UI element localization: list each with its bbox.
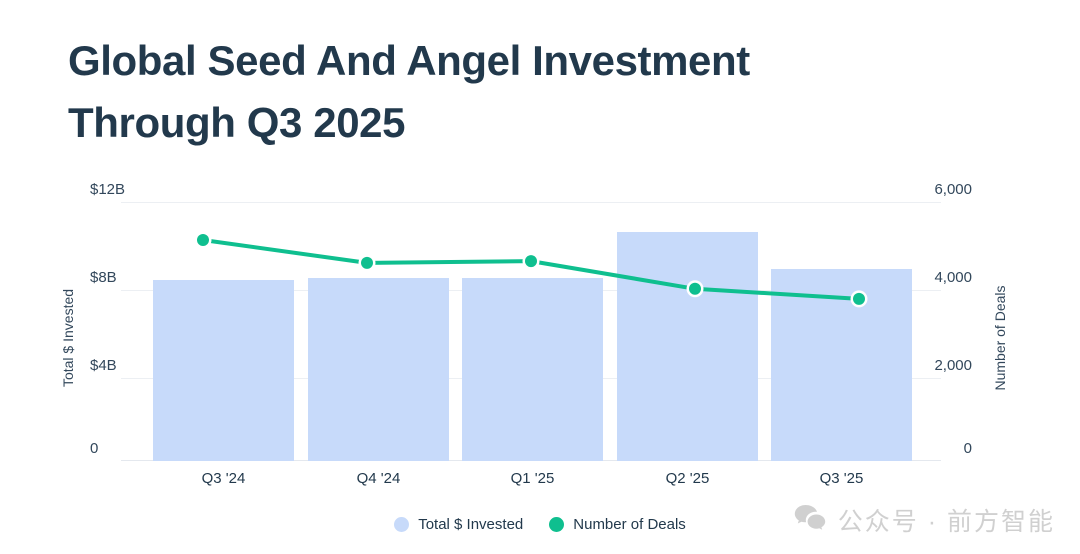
- x-tick-q4-24: Q4 '24: [308, 470, 449, 487]
- y-tick-right-6000: 6,000: [855, 181, 972, 198]
- line-marker-q1-25[interactable]: [525, 255, 537, 267]
- legend-label-total-invested: Total $ Invested: [418, 516, 523, 533]
- y-tick-left-0: 0: [90, 440, 98, 457]
- plot-region: [121, 202, 941, 461]
- legend-item-number-of-deals[interactable]: Number of Deals: [549, 516, 686, 533]
- watermark: 公众号 · 前方智能: [794, 502, 1055, 538]
- y-axis-title-left: Total $ Invested: [60, 258, 76, 418]
- legend-item-total-invested[interactable]: Total $ Invested: [394, 516, 523, 533]
- legend-label-number-of-deals: Number of Deals: [573, 516, 686, 533]
- line-marker-q3-25[interactable]: [853, 293, 865, 305]
- line-marker-q4-24[interactable]: [361, 257, 373, 269]
- chart-figure: Total $ Invested Number of Deals $12B $8…: [0, 0, 1080, 554]
- wechat-icon: [794, 504, 826, 537]
- line-marker-q3-24[interactable]: [197, 234, 209, 246]
- line-marker-q2-25[interactable]: [689, 283, 701, 295]
- legend-swatch-icon: [394, 517, 409, 532]
- y-tick-left-8b: $8B: [90, 269, 117, 286]
- x-tick-q3-25: Q3 '25: [771, 470, 912, 487]
- y-tick-left-12b: $12B: [90, 181, 125, 198]
- x-tick-q1-25: Q1 '25: [462, 470, 603, 487]
- x-tick-q3-24: Q3 '24: [153, 470, 294, 487]
- x-tick-q2-25: Q2 '25: [617, 470, 758, 487]
- y-axis-title-right: Number of Deals: [992, 258, 1008, 418]
- legend-swatch-icon: [549, 517, 564, 532]
- deals-line-series: [121, 202, 941, 461]
- watermark-text: 公众号 · 前方智能: [838, 502, 1055, 538]
- y-tick-left-4b: $4B: [90, 357, 117, 374]
